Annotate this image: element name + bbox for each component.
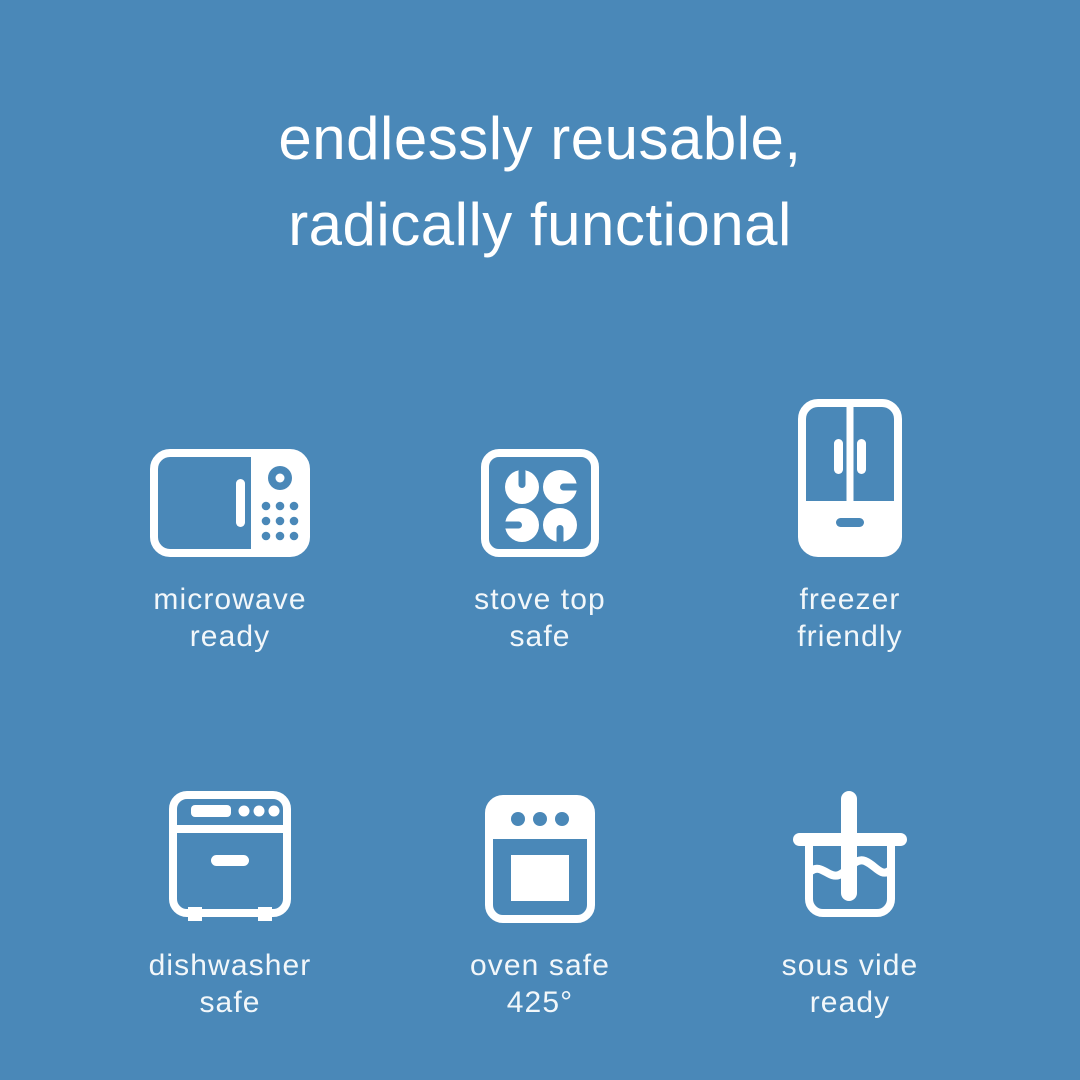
- freezer-icon-box: [798, 382, 902, 557]
- caption-dishwasher-line-2: safe: [149, 984, 312, 1021]
- caption-oven: oven safe 425°: [470, 947, 610, 1021]
- caption-stove-top-line-1: stove top: [474, 581, 606, 618]
- caption-microwave-line-2: ready: [153, 618, 306, 655]
- dishwasher-icon: [169, 791, 291, 923]
- sous-vide-icon: [785, 783, 915, 923]
- caption-stove-top: stove top safe: [474, 581, 606, 655]
- caption-dishwasher: dishwasher safe: [149, 947, 312, 1021]
- caption-microwave-line-1: microwave: [153, 581, 306, 618]
- feature-sous-vide: sous vide ready: [695, 748, 1005, 1048]
- page-title: endlessly reusable, radically functional: [0, 96, 1080, 268]
- caption-freezer-line-2: friendly: [797, 618, 903, 655]
- stove-top-icon-box: [481, 382, 599, 557]
- caption-microwave: microwave ready: [153, 581, 306, 655]
- feature-oven: oven safe 425°: [385, 748, 695, 1048]
- headline-line-1: endlessly reusable,: [0, 96, 1080, 182]
- caption-freezer-line-1: freezer: [797, 581, 903, 618]
- feature-grid: microwave ready: [75, 382, 1005, 1048]
- sous-vide-icon-box: [785, 748, 915, 923]
- microwave-icon-box: [150, 382, 310, 557]
- feature-stove-top: stove top safe: [385, 382, 695, 682]
- caption-freezer: freezer friendly: [797, 581, 903, 655]
- dishwasher-icon-box: [169, 748, 291, 923]
- caption-sous-vide-line-2: ready: [782, 984, 919, 1021]
- oven-icon-box: [485, 748, 595, 923]
- caption-sous-vide-line-1: sous vide: [782, 947, 919, 984]
- feature-dishwasher: dishwasher safe: [75, 748, 385, 1048]
- caption-sous-vide: sous vide ready: [782, 947, 919, 1021]
- caption-oven-line-2: 425°: [470, 984, 610, 1021]
- caption-stove-top-line-2: safe: [474, 618, 606, 655]
- oven-icon: [485, 795, 595, 923]
- headline-line-2: radically functional: [0, 182, 1080, 268]
- feature-microwave: microwave ready: [75, 382, 385, 682]
- freezer-icon: [798, 399, 902, 557]
- caption-dishwasher-line-1: dishwasher: [149, 947, 312, 984]
- microwave-icon: [150, 449, 310, 557]
- feature-freezer: freezer friendly: [695, 382, 1005, 682]
- feature-poster: endlessly reusable, radically functional: [0, 0, 1080, 1080]
- stove-top-icon: [481, 449, 599, 557]
- caption-oven-line-1: oven safe: [470, 947, 610, 984]
